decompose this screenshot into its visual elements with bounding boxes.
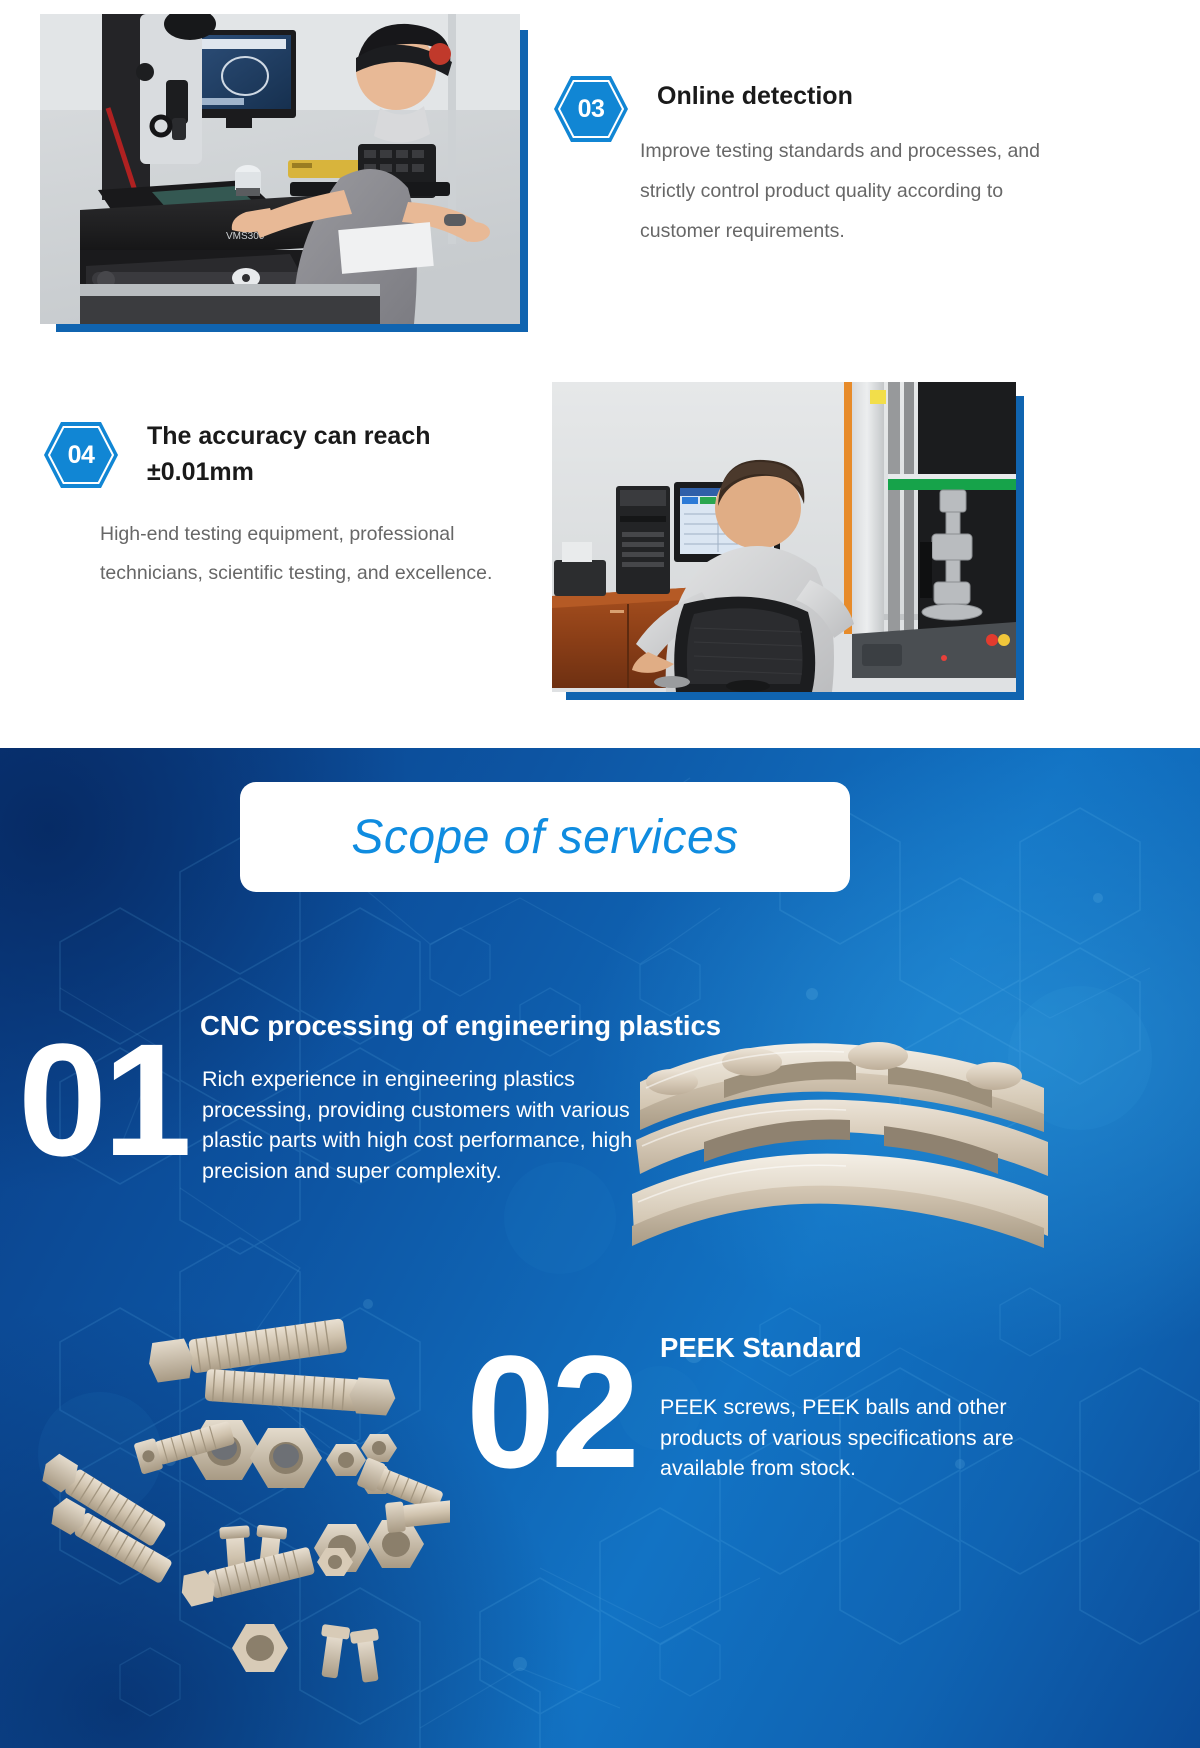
- scope-title-02: PEEK Standard: [660, 1332, 862, 1364]
- scope-title-01: CNC processing of engineering plastics: [200, 1010, 721, 1042]
- photo-accent-right: [520, 30, 528, 330]
- scope-title: Scope of services: [351, 810, 738, 865]
- photo-frame-online-detection: VMS300: [40, 14, 520, 324]
- badge-03: 03: [552, 74, 630, 144]
- photo-accent-right: [1016, 396, 1024, 692]
- image-peek-screws-extra: [180, 1448, 440, 1708]
- feature-body-accuracy: High-end testing equipment, professional…: [100, 515, 532, 595]
- photo-optical-measuring-machine: VMS300: [40, 14, 520, 324]
- feature-block-online-detection: 03 Online detection Improve testing stan…: [552, 78, 1072, 252]
- scope-body-01: Rich experience in engineering plastics …: [202, 1064, 640, 1187]
- badge-04-number: 04: [42, 420, 120, 490]
- image-peek-machined-part: [632, 1036, 1052, 1266]
- photo-universal-testing-machine: [552, 382, 1016, 692]
- scope-of-services-section: [0, 748, 1200, 1748]
- scope-number-02: 02: [466, 1338, 636, 1485]
- badge-03-number: 03: [552, 74, 630, 144]
- feature-title-online-detection: Online detection: [657, 78, 1072, 114]
- feature-title-accuracy: The accuracy can reach ±0.01mm: [147, 418, 532, 491]
- feature-block-accuracy: 04 The accuracy can reach ±0.01mm High-e…: [42, 418, 532, 594]
- scope-body-02: PEEK screws, PEEK balls and other produc…: [660, 1392, 1060, 1484]
- badge-04: 04: [42, 420, 120, 490]
- scope-title-card: Scope of services: [240, 782, 850, 892]
- photo-accent-bottom: [56, 324, 528, 332]
- photo-accent-bottom: [566, 692, 1024, 700]
- feature-body-online-detection: Improve testing standards and processes,…: [640, 132, 1072, 252]
- photo-frame-accuracy: [552, 382, 1016, 692]
- scope-number-01: 01: [18, 1026, 188, 1173]
- features-section: VMS300: [0, 0, 1200, 748]
